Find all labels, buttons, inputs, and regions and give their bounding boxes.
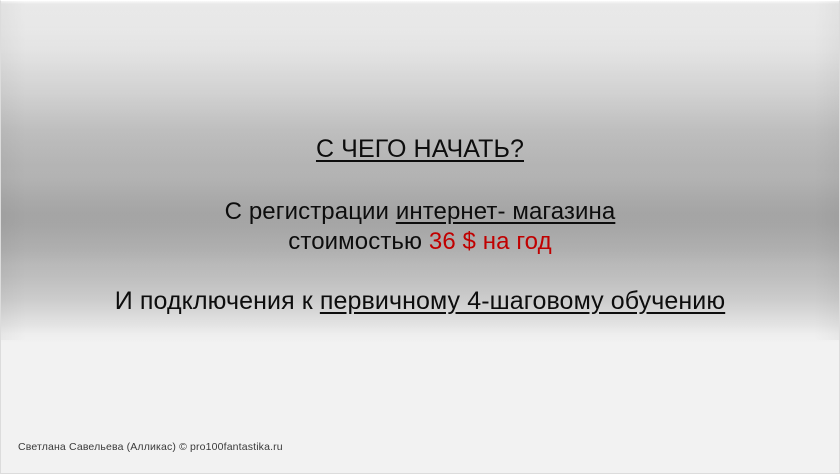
slide-content: С ЧЕГО НАЧАТЬ? С регистрации интернет- м… [0, 0, 840, 474]
slide-title-text: С ЧЕГО НАЧАТЬ? [316, 135, 524, 163]
footer-credit: Светлана Савельева (Алликас) © pro100fan… [18, 440, 283, 454]
body-line-3-plain: И подключения к [115, 287, 320, 315]
body-line-2: стоимостью 36 $ на год [0, 227, 840, 257]
body-line-2-price-accent: 36 $ на год [429, 228, 552, 255]
body-line-3-underlined: первичному 4-шаговому обучению [320, 287, 725, 315]
slide-title: С ЧЕГО НАЧАТЬ? [0, 134, 840, 164]
presentation-slide: С ЧЕГО НАЧАТЬ? С регистрации интернет- м… [0, 0, 840, 474]
body-line-3: И подключения к первичному 4-шаговому об… [0, 286, 840, 317]
body-line-2-plain: стоимостью [288, 228, 429, 255]
body-line-1-plain: С регистрации [225, 198, 396, 225]
body-line-1: С регистрации интернет- магазина [0, 197, 840, 227]
body-line-1-underlined: интернет- магазина [396, 198, 616, 225]
